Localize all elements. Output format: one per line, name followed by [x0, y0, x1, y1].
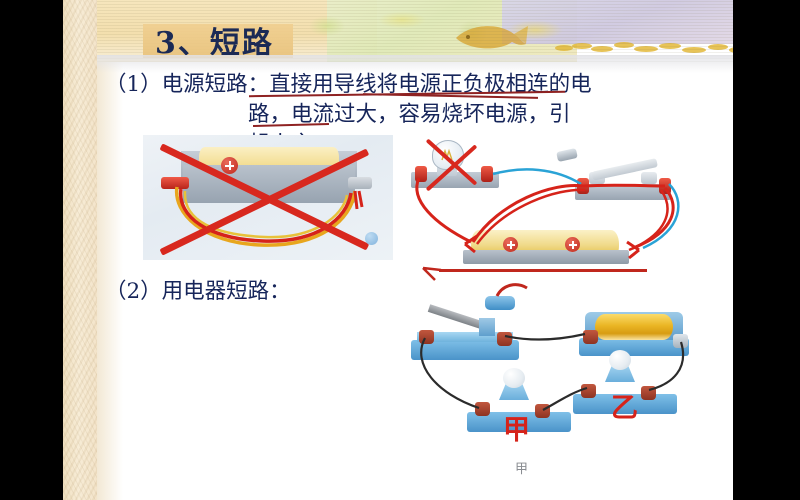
letterbox-left: [0, 0, 63, 500]
figure-two-lamp-circuit: 甲 乙 甲: [393, 290, 693, 480]
figure-lamp-switch-battery: [393, 138, 693, 280]
figure-battery-short-circuit: [143, 135, 393, 260]
label-jia: 甲: [503, 408, 530, 447]
figure-caption: 甲: [515, 458, 528, 477]
label-yi: 乙: [611, 386, 638, 425]
decorative-edge-strip: [63, 0, 97, 500]
letterbox-right: [733, 0, 800, 500]
watermark-bubble-icon: [365, 232, 378, 245]
bullet-2-line-1: （2）用电器短路：: [105, 277, 291, 307]
annotation-arrow-icon: [421, 264, 481, 284]
header-banner: 3、短路: [97, 0, 733, 62]
red-annotation-mark-icon: [493, 282, 533, 302]
slide-canvas: 3、短路 （1）电源短路：直接用导线将电源正负极相连的电 路，电流过大，容易烧坏…: [63, 0, 733, 500]
slide-stage: 3、短路 （1）电源短路：直接用导线将电源正负极相连的电 路，电流过大，容易烧坏…: [0, 0, 800, 500]
lab-circuit-wires: [393, 290, 693, 480]
circuit-wires: [393, 138, 693, 280]
